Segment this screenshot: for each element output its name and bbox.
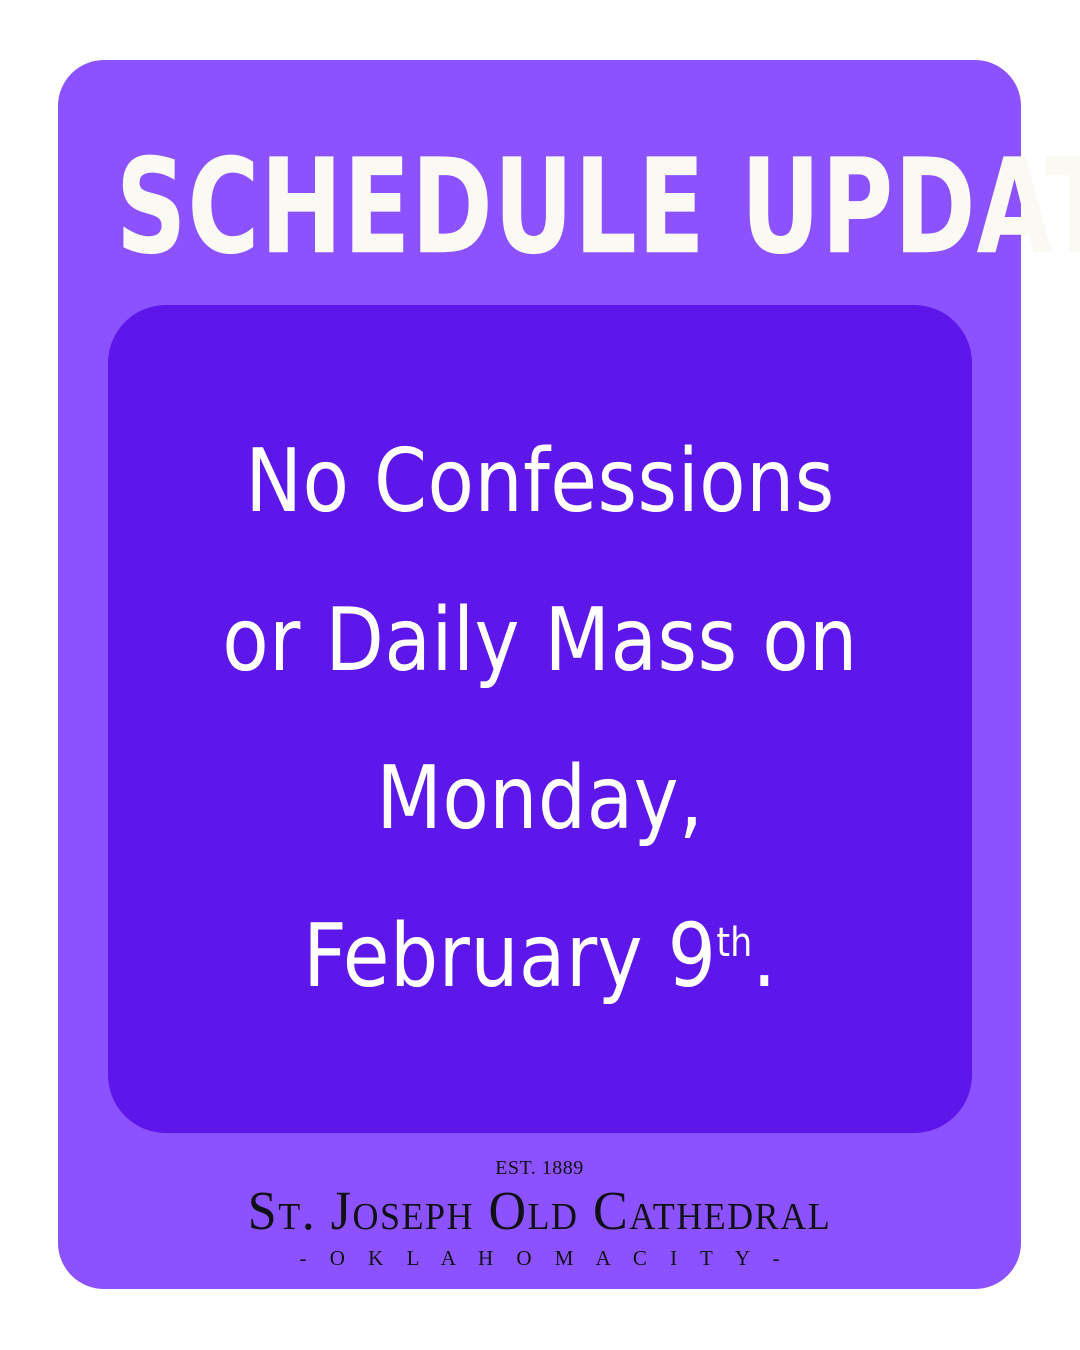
message-line-4: February 9th.: [138, 877, 941, 1035]
logo-city-line: - O K L A H O M A C I T Y -: [58, 1248, 1021, 1269]
message-line-1: No Confessions: [138, 402, 941, 560]
message-date-prefix: February 9: [303, 905, 716, 1007]
page-title: SCHEDULE UPDATE: [116, 142, 963, 273]
parish-logo: EST. 1889 St. Joseph Old Cathedral - O K…: [58, 1158, 1021, 1269]
message-line-3: Monday,: [138, 719, 941, 877]
message-date-ordinal: th: [716, 920, 752, 966]
poster-canvas: SCHEDULE UPDATE No Confessions or Daily …: [0, 0, 1080, 1350]
logo-established-year: EST. 1889: [58, 1158, 1021, 1178]
announcement-card: SCHEDULE UPDATE No Confessions or Daily …: [58, 60, 1021, 1289]
message-line-2: or Daily Mass on: [138, 561, 941, 719]
message-panel: No Confessions or Daily Mass on Monday, …: [108, 305, 972, 1133]
logo-parish-name: St. Joseph Old Cathedral: [58, 1184, 1021, 1241]
message-date-suffix: .: [752, 905, 777, 1007]
message-text: No Confessions or Daily Mass on Monday, …: [121, 402, 959, 1035]
